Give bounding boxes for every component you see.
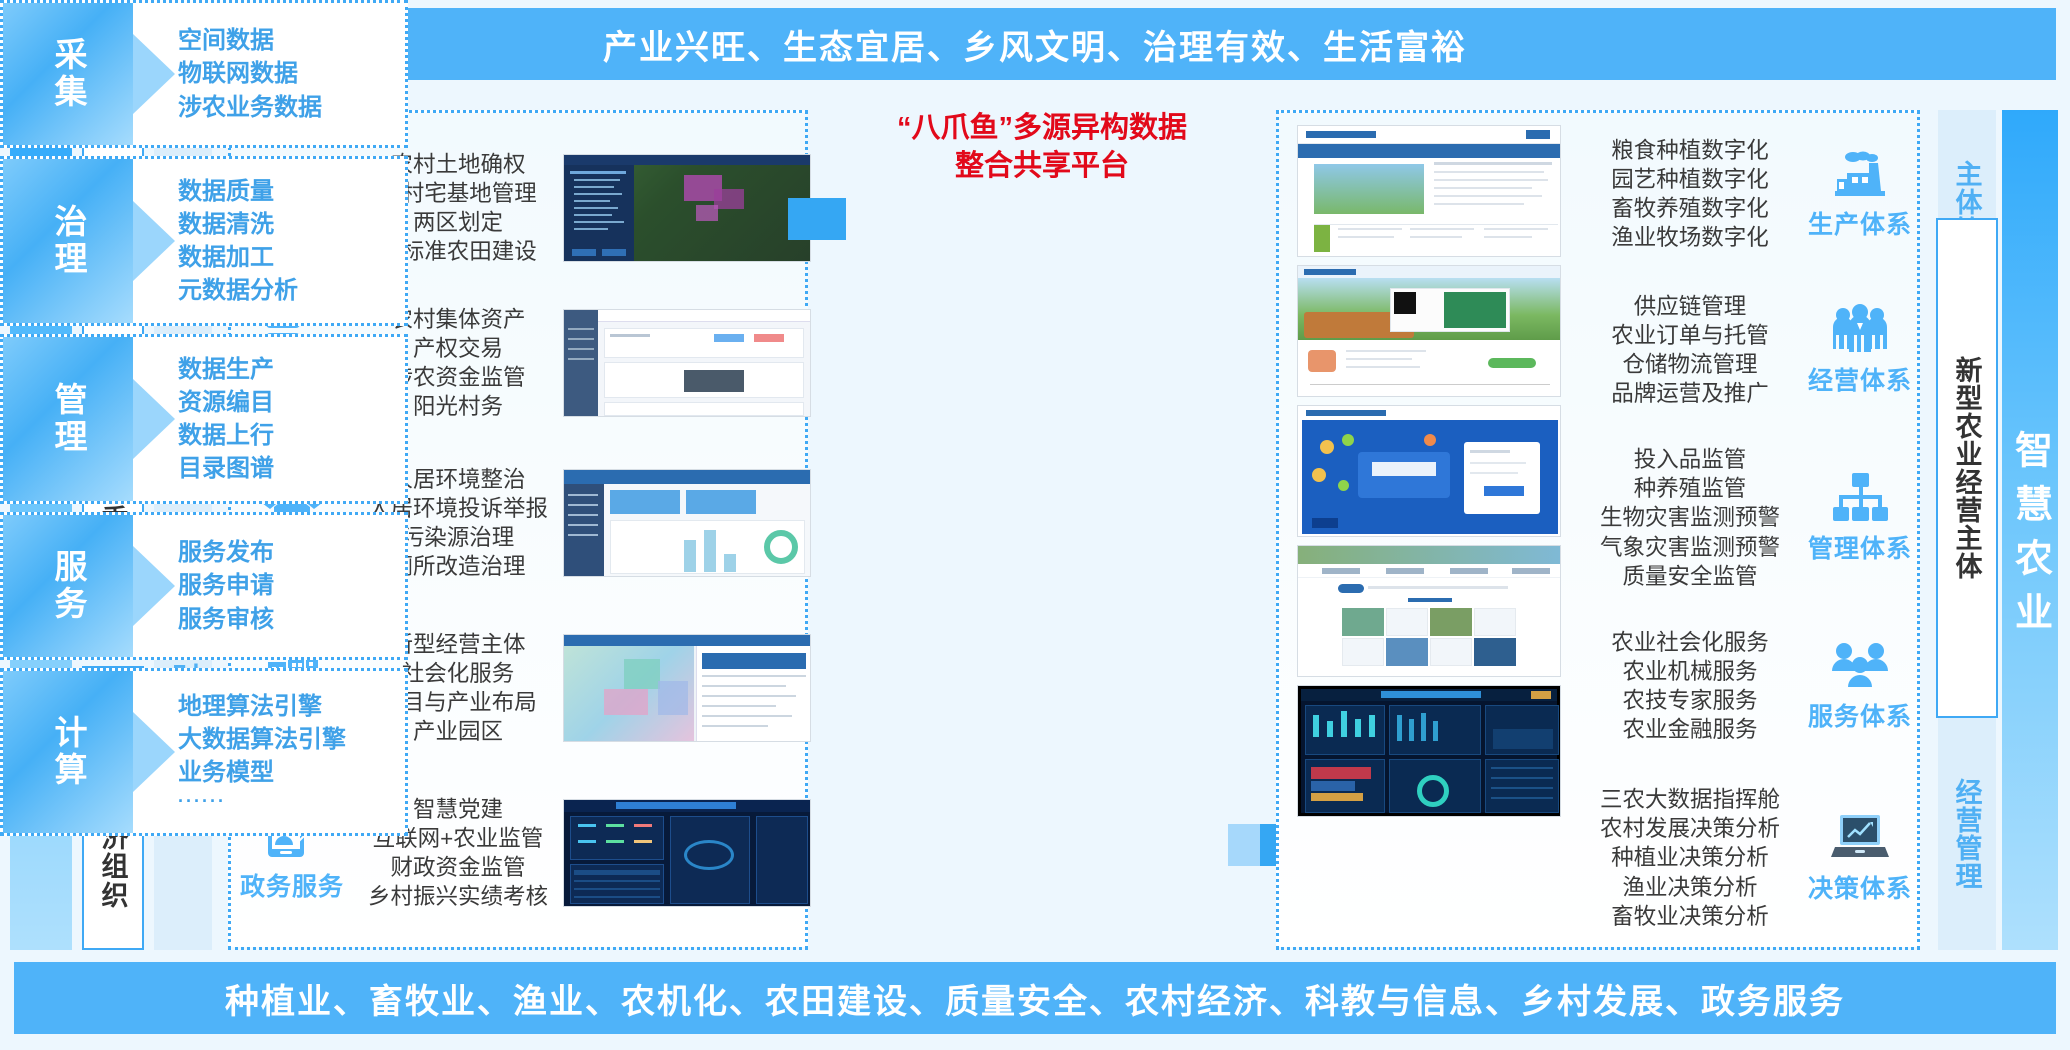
system-item: 质量安全监管: [1575, 562, 1805, 591]
module-screenshot-satellite-map[interactable]: [563, 154, 811, 262]
stage-chevron: 管理: [3, 337, 133, 501]
stage-item: 数据质量: [178, 175, 395, 208]
system-item: 农业社会化服务: [1575, 628, 1805, 657]
system-item: 畜牧业决策分析: [1575, 902, 1805, 931]
stage-item: 涉农业务数据: [178, 91, 395, 124]
system-item: 农业机械服务: [1575, 657, 1805, 686]
bottom-banner: 种植业、畜牧业、渔业、农机化、农田建设、质量安全、农村经济、科教与信息、乡村发展…: [14, 962, 2056, 1034]
center-title-line-1: “八爪鱼”多源异构数据: [836, 110, 1248, 148]
system-label: 服务体系: [1808, 697, 1912, 733]
system-screenshot-bigdata-dashboard[interactable]: [1297, 685, 1561, 817]
right-main-box-label: 新型农业经营主体: [1948, 356, 1987, 580]
module-screenshot-governance-chart[interactable]: [563, 469, 811, 577]
system-label: 管理体系: [1808, 529, 1912, 565]
stage-service[interactable]: 服务 服务发布 服务申请 服务审核: [0, 512, 408, 660]
system-item: 农技专家服务: [1575, 686, 1805, 715]
stage-item: 数据生产: [178, 353, 395, 386]
system-label: 生产体系: [1808, 205, 1912, 241]
center-title-line-2: 整合共享平台: [836, 148, 1248, 186]
module-item: 乡村振兴实绩考核: [353, 882, 563, 911]
stage-item-list: 数据质量 数据清洗 数据加工 元数据分析: [178, 159, 395, 323]
system-item-list: 供应链管理 农业订单与托管 仓储物流管理 品牌运营及推广: [1575, 292, 1805, 409]
stage-item-list: 空间数据 物联网数据 涉农业务数据: [178, 3, 395, 145]
system-row-production[interactable]: 粮食种植数字化 园艺种植数字化 畜牧养殖数字化 渔业牧场数字化: [1575, 119, 1915, 269]
connector-segment: [817, 198, 846, 240]
right-main-box-new-agri-entities[interactable]: 新型农业经营主体: [1936, 218, 1998, 718]
stage-collect[interactable]: 采集 空间数据 物联网数据 涉农业务数据: [0, 0, 408, 148]
stage-chevron: 治理: [3, 159, 133, 323]
system-item-list: 投入品监管 种养殖监管 生物灾害监测预警 气象灾害监测预警 质量安全监管: [1575, 445, 1805, 591]
stage-item: 数据加工: [178, 241, 395, 274]
module-screenshot-asset-dashboard[interactable]: [563, 309, 811, 417]
stage-item-list: 数据生产 资源编目 数据上行 目录图谱: [178, 337, 395, 501]
system-screenshot-food-safety[interactable]: [1297, 405, 1561, 537]
people-group-icon: [1829, 303, 1891, 357]
system-icon-wrap: 决策体系: [1805, 811, 1915, 905]
system-icon-wrap: 服务体系: [1805, 639, 1915, 733]
system-item: 渔业牧场数字化: [1575, 223, 1805, 252]
stage-item: 服务发布: [178, 536, 395, 569]
system-item: 渔业决策分析: [1575, 873, 1805, 902]
module-label: 政务服务: [240, 867, 344, 903]
stage-chevron: 服务: [3, 515, 133, 657]
stage-item-list: 服务发布 服务申请 服务审核: [178, 515, 395, 657]
system-row-decision[interactable]: 三农大数据指挥舱 农村发展决策分析 种植业决策分析 渔业决策分析 畜牧业决策分析…: [1575, 773, 1915, 943]
system-item: 农业订单与托管: [1575, 321, 1805, 350]
system-icon-wrap: 管理体系: [1805, 471, 1915, 565]
stage-name: 管理: [44, 382, 92, 456]
system-screenshot-service-platform[interactable]: [1297, 545, 1561, 677]
system-row-service[interactable]: 农业社会化服务 农业机械服务 农技专家服务 农业金融服务 服务体系: [1575, 611, 1915, 761]
stage-chevron: 计算: [3, 671, 133, 833]
system-item: 园艺种植数字化: [1575, 165, 1805, 194]
stage-item: 元数据分析: [178, 274, 395, 307]
infographic-root: 产业兴旺、生态宜居、乡风文明、治理有效、生活富裕 种植业、畜牧业、渔业、农机化、…: [0, 0, 2070, 1050]
system-item: 气象灾害监测预警: [1575, 533, 1805, 562]
stage-item: 服务审核: [178, 603, 395, 636]
stage-name: 服务: [44, 549, 92, 623]
right-side-label-operation-management: 经营管理: [1938, 718, 1996, 950]
org-chart-icon: [1829, 471, 1891, 525]
stage-name: 治理: [44, 204, 92, 278]
system-item-list: 农业社会化服务 农业机械服务 农技专家服务 农业金融服务: [1575, 628, 1805, 745]
three-users-icon: [1829, 639, 1891, 693]
stage-name: 计算: [44, 715, 92, 789]
system-item: 农业金融服务: [1575, 715, 1805, 744]
system-label: 经营体系: [1808, 361, 1912, 397]
system-item: 农村发展决策分析: [1575, 814, 1805, 843]
system-item: 供应链管理: [1575, 292, 1805, 321]
system-icon-wrap: 生产体系: [1805, 147, 1915, 241]
connector-segment: [1228, 824, 1260, 866]
system-row-operation[interactable]: 供应链管理 农业订单与托管 仓储物流管理 品牌运营及推广 经营体系: [1575, 275, 1915, 425]
right-side-label: 经营管理: [1948, 778, 1987, 890]
stage-management[interactable]: 管理 数据生产 资源编目 数据上行 目录图谱: [0, 334, 408, 504]
system-item: 生物灾害监测预警: [1575, 503, 1805, 532]
right-systems-panel: 粮食种植数字化 园艺种植数字化 畜牧养殖数字化 渔业牧场数字化: [1276, 110, 1920, 950]
system-item: 品牌运营及推广: [1575, 379, 1805, 408]
stage-item: 数据上行: [178, 419, 395, 452]
center-stages-panel: 采集 空间数据 物联网数据 涉农业务数据 治理 数据质量 数据清洗 数据加工 元…: [0, 0, 408, 764]
system-screenshot-traceability-portal[interactable]: [1297, 265, 1561, 397]
system-item: 畜牧养殖数字化: [1575, 194, 1805, 223]
system-item: 三农大数据指挥舱: [1575, 785, 1805, 814]
brand-bar-right-label: 智慧农业: [2003, 414, 2058, 646]
module-screenshot-industry-map[interactable]: [563, 634, 811, 742]
connector-segment: [788, 198, 817, 240]
stage-item-list: 地理算法引擎 大数据算法引擎 业务模型 ······: [178, 671, 395, 833]
module-screenshot-party-dashboard[interactable]: [563, 799, 811, 907]
system-item-list: 粮食种植数字化 园艺种植数字化 畜牧养殖数字化 渔业牧场数字化: [1575, 136, 1805, 253]
stage-item: 地理算法引擎: [178, 690, 395, 723]
system-item: 仓储物流管理: [1575, 350, 1805, 379]
stage-item: 大数据算法引擎: [178, 723, 395, 756]
system-row-management[interactable]: 投入品监管 种养殖监管 生物灾害监测预警 气象灾害监测预警 质量安全监管: [1575, 433, 1915, 603]
center-platform-title: “八爪鱼”多源异构数据 整合共享平台: [836, 110, 1248, 185]
stage-item: 数据清洗: [178, 208, 395, 241]
system-item: 种植业决策分析: [1575, 843, 1805, 872]
brand-bar-right: 智慧农业: [2002, 110, 2058, 950]
system-item: 投入品监管: [1575, 445, 1805, 474]
system-icon-wrap: 经营体系: [1805, 303, 1915, 397]
factory-icon: [1829, 147, 1891, 201]
stage-name: 采集: [44, 37, 92, 111]
connector-left: [788, 198, 846, 240]
stage-item: 服务申请: [178, 569, 395, 602]
system-item-list: 三农大数据指挥舱 农村发展决策分析 种植业决策分析 渔业决策分析 畜牧业决策分析: [1575, 785, 1805, 931]
stage-item: 空间数据: [178, 24, 395, 57]
laptop-chart-icon: [1829, 811, 1891, 865]
stage-chevron: 采集: [3, 3, 133, 145]
stage-item-ellipsis: ······: [178, 789, 395, 814]
stage-item: 资源编目: [178, 386, 395, 419]
system-label: 决策体系: [1808, 869, 1912, 905]
module-item: 财政资金监管: [353, 853, 563, 882]
stage-governance[interactable]: 治理 数据质量 数据清洗 数据加工 元数据分析: [0, 156, 408, 326]
stage-item: 物联网数据: [178, 57, 395, 90]
stage-computation[interactable]: 计算 地理算法引擎 大数据算法引擎 业务模型 ······: [0, 668, 408, 836]
system-item: 种养殖监管: [1575, 474, 1805, 503]
system-item: 粮食种植数字化: [1575, 136, 1805, 165]
stage-item: 业务模型: [178, 756, 395, 789]
stage-item: 目录图谱: [178, 452, 395, 485]
system-screenshot-agri-portal[interactable]: [1297, 125, 1561, 257]
